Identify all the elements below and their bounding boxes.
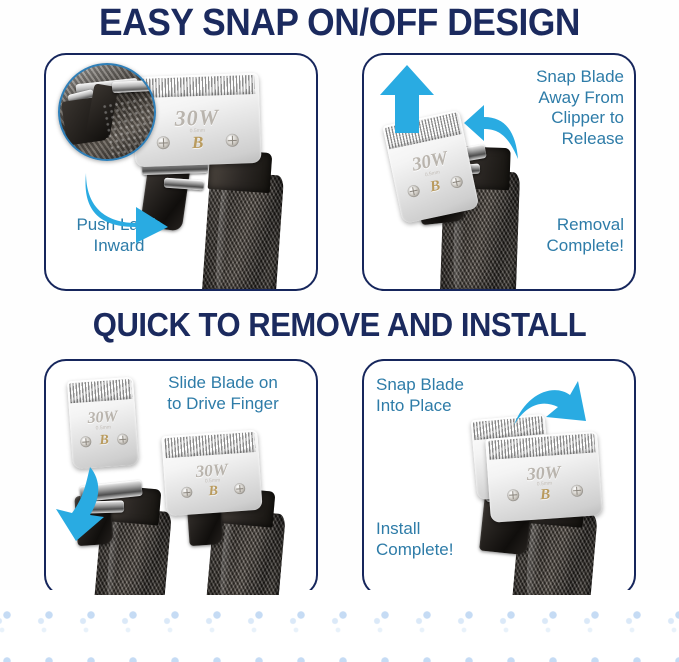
caption-snap-blade-into-place: Snap Blade Into Place bbox=[376, 375, 516, 416]
caption-install-complete: Install Complete! bbox=[376, 519, 516, 560]
page-title-top: EASY SNAP ON/OFF DESIGN bbox=[24, 2, 655, 45]
infographic-root: EASY SNAP ON/OFF DESIGN 30W 0.5mm B bbox=[0, 0, 679, 662]
decorative-dot-pattern bbox=[0, 590, 679, 662]
curved-arrow-down-icon bbox=[50, 465, 110, 543]
latch-closeup-inset-icon bbox=[58, 63, 156, 161]
clipper-blade-seated: 30W 0.5mm B bbox=[485, 431, 603, 523]
curved-arrow-right-down-icon bbox=[512, 377, 588, 437]
page-title-middle: QUICK TO REMOVE AND INSTALL bbox=[20, 306, 658, 344]
clipper-blade-floating: 30W 0.5mm B bbox=[67, 377, 139, 469]
arrow-up-icon bbox=[378, 63, 436, 135]
curved-arrow-right-icon bbox=[80, 167, 172, 245]
caption-removal-complete: Removal Complete! bbox=[474, 215, 624, 256]
panel-push-latch-inward: 30W 0.5mm B Push Latch Inward bbox=[44, 53, 318, 291]
caption-slide-blade-on: Slide Blade on to Drive Finger bbox=[138, 373, 308, 414]
panel-slide-blade-on: 30W 0.5mm B 30W 0.5mm B Slide Blade on t… bbox=[44, 359, 318, 597]
curved-arrow-up-left-icon bbox=[460, 101, 522, 163]
panel-snap-blade-away: 30W 0.5mm B Snap Blade Away From Clipper… bbox=[362, 53, 636, 291]
clipper-blade-attached: 30W 0.5mm B bbox=[161, 430, 262, 517]
panel-snap-blade-into-place: 30W 0.5mm B Snap Blade Into Place Instal… bbox=[362, 359, 636, 597]
